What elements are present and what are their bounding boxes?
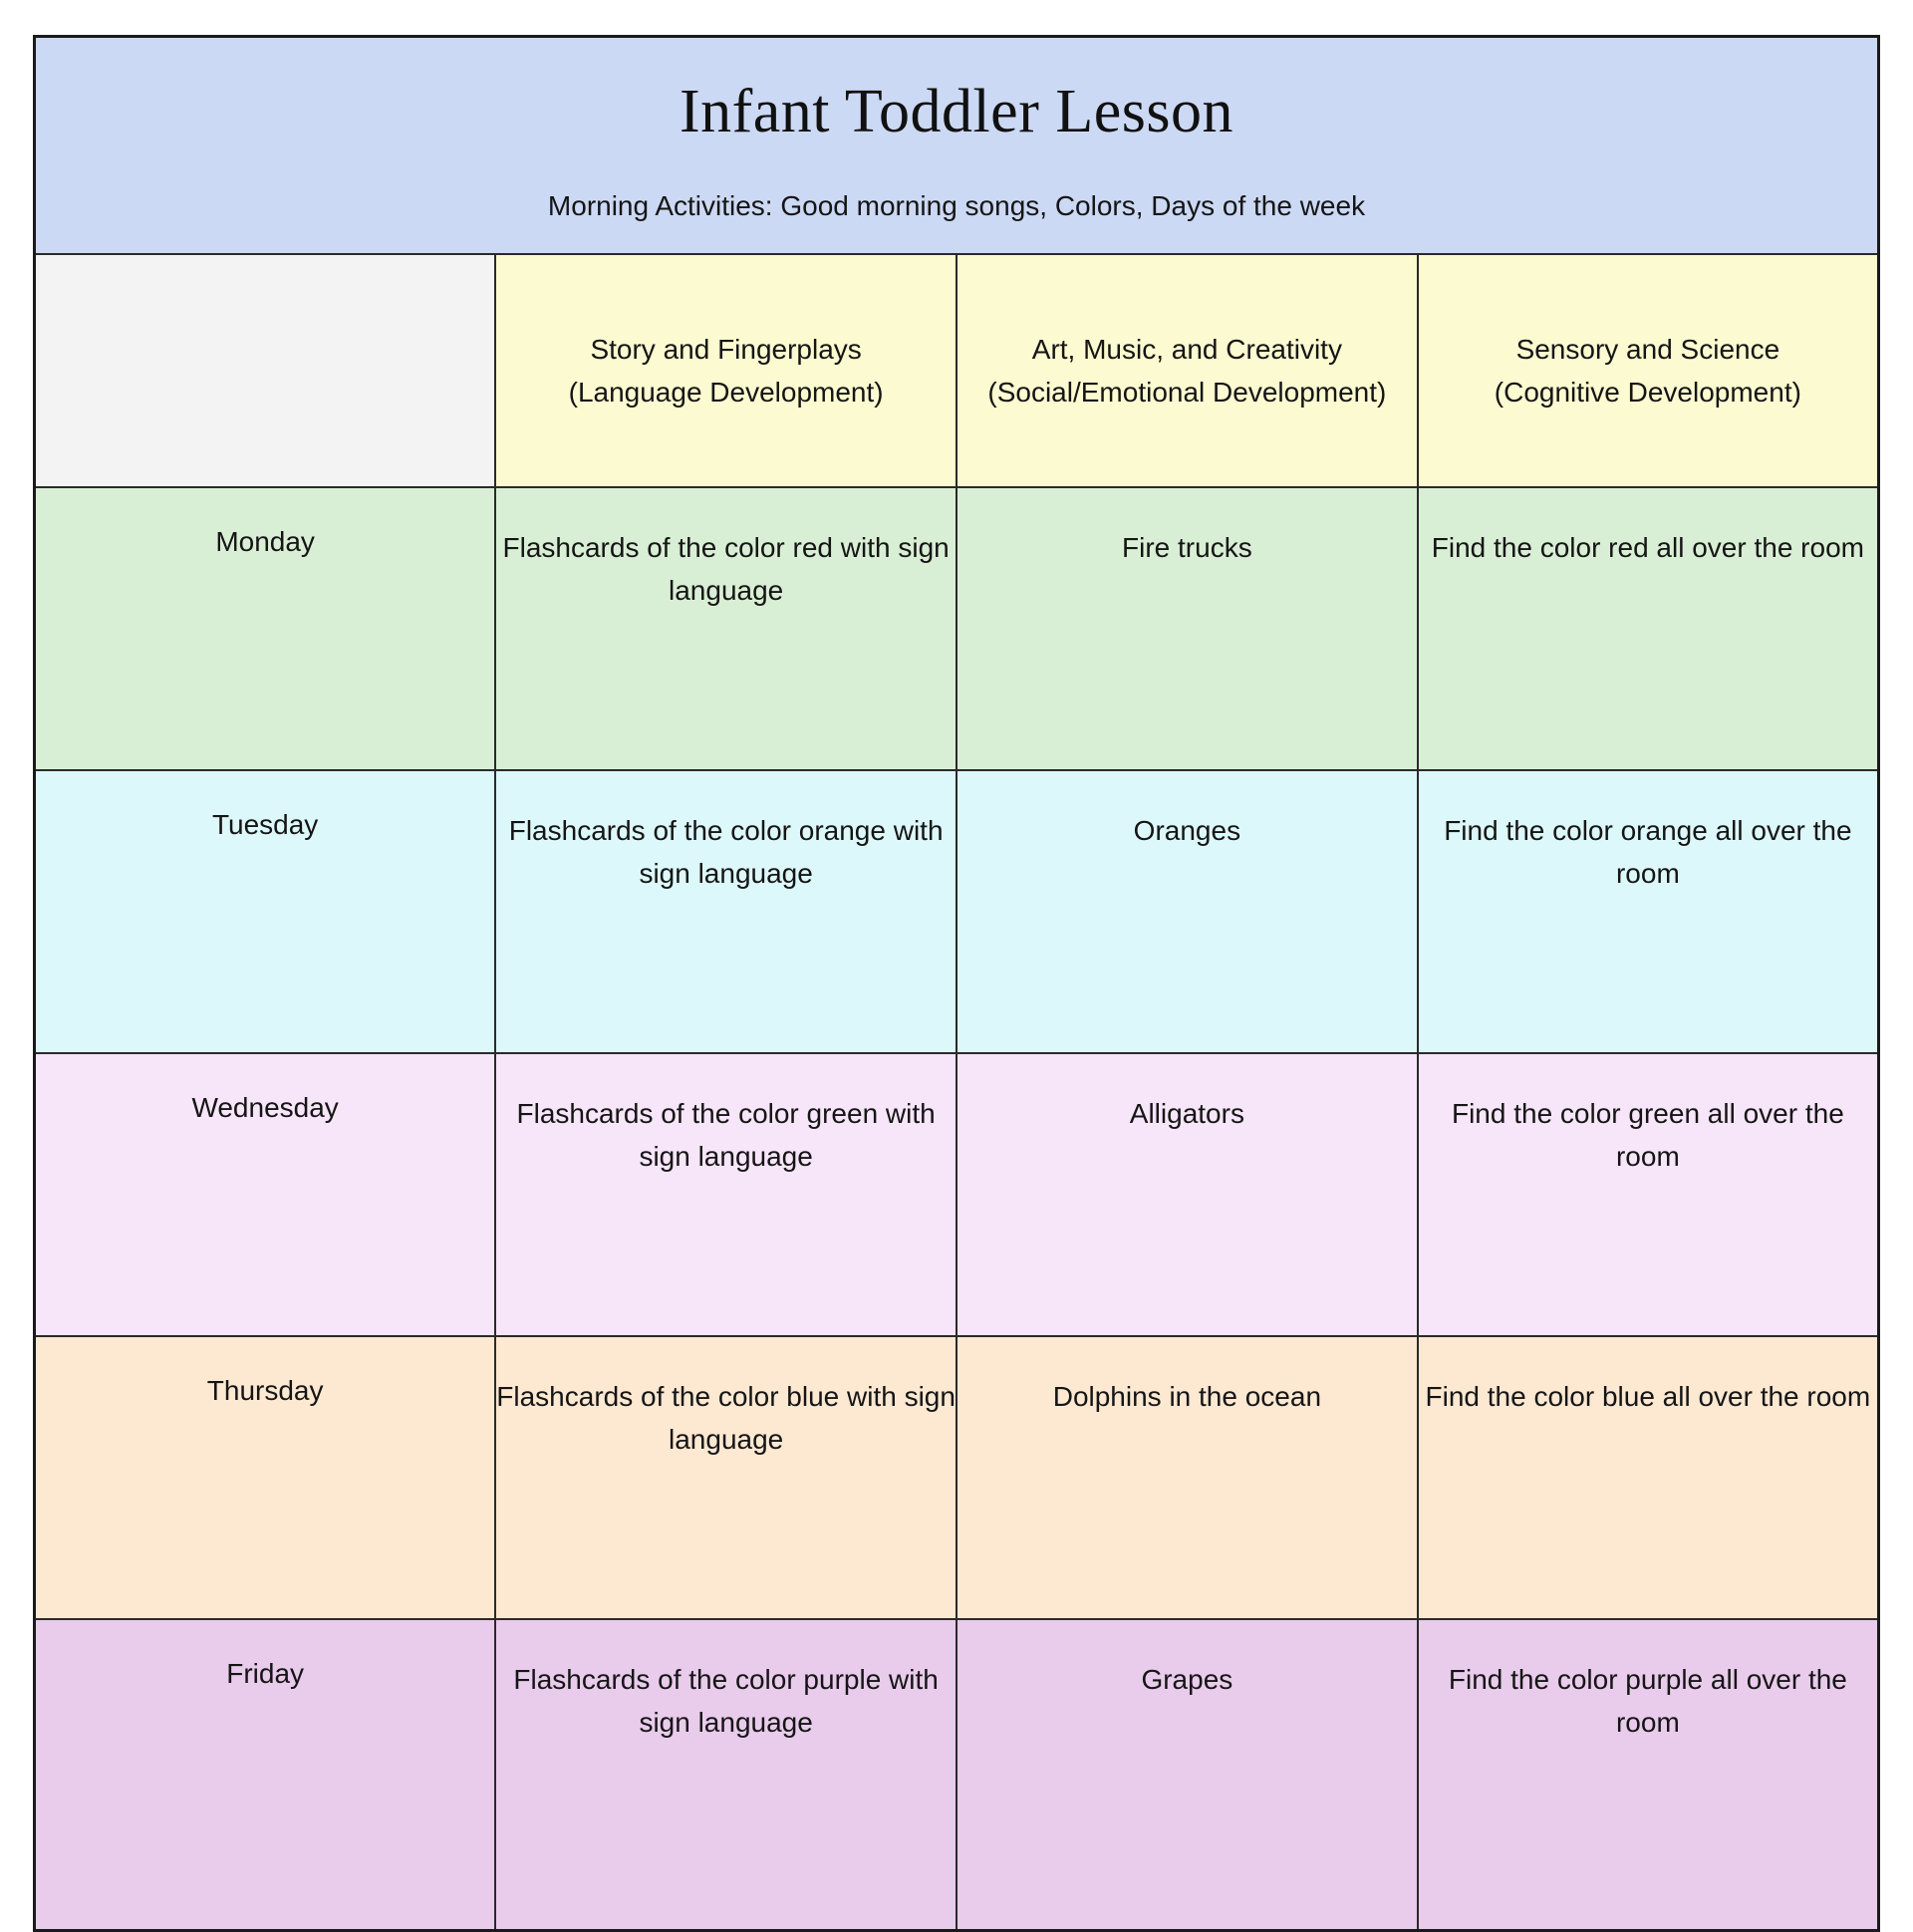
page-subtitle: Morning Activities: Good morning songs, … bbox=[36, 190, 1877, 222]
cell-sensory: Find the color blue all over the room bbox=[1418, 1336, 1879, 1619]
cell-story: Flashcards of the color orange with sign… bbox=[495, 770, 956, 1053]
cell-sensory: Find the color orange all over the room bbox=[1418, 770, 1879, 1053]
cell-art: Grapes bbox=[956, 1619, 1418, 1931]
cell-art: Fire trucks bbox=[956, 487, 1418, 770]
column-header-sensory-title: Sensory and Science bbox=[1419, 328, 1877, 371]
lesson-plan-table: Infant Toddler Lesson Morning Activities… bbox=[33, 35, 1880, 1932]
cell-story: Flashcards of the color blue with sign l… bbox=[495, 1336, 956, 1619]
cell-art: Alligators bbox=[956, 1053, 1418, 1336]
table-row: Monday Flashcards of the color red with … bbox=[35, 487, 1879, 770]
table-row: Thursday Flashcards of the color blue wi… bbox=[35, 1336, 1879, 1619]
corner-blank-cell bbox=[35, 254, 496, 487]
column-header-art-subtitle: (Social/Emotional Development) bbox=[957, 371, 1417, 414]
row-day-label: Thursday bbox=[35, 1336, 496, 1619]
row-day-label: Wednesday bbox=[35, 1053, 496, 1336]
column-header-art-title: Art, Music, and Creativity bbox=[957, 328, 1417, 371]
table-row: Tuesday Flashcards of the color orange w… bbox=[35, 770, 1879, 1053]
page-title: Infant Toddler Lesson bbox=[36, 77, 1877, 147]
column-header-story-subtitle: (Language Development) bbox=[496, 371, 956, 414]
row-day-label: Friday bbox=[35, 1619, 496, 1931]
cell-art: Dolphins in the ocean bbox=[956, 1336, 1418, 1619]
cell-sensory: Find the color purple all over the room bbox=[1418, 1619, 1879, 1931]
cell-sensory: Find the color green all over the room bbox=[1418, 1053, 1879, 1336]
cell-story: Flashcards of the color purple with sign… bbox=[495, 1619, 956, 1931]
table-row: Wednesday Flashcards of the color green … bbox=[35, 1053, 1879, 1336]
cell-sensory: Find the color red all over the room bbox=[1418, 487, 1879, 770]
title-band-cell: Infant Toddler Lesson Morning Activities… bbox=[35, 37, 1879, 255]
column-header-story-title: Story and Fingerplays bbox=[496, 328, 956, 371]
cell-story: Flashcards of the color green with sign … bbox=[495, 1053, 956, 1336]
row-day-label: Monday bbox=[35, 487, 496, 770]
title-row: Infant Toddler Lesson Morning Activities… bbox=[35, 37, 1879, 255]
column-header-sensory: Sensory and Science (Cognitive Developme… bbox=[1418, 254, 1879, 487]
column-header-art: Art, Music, and Creativity (Social/Emoti… bbox=[956, 254, 1418, 487]
cell-art: Oranges bbox=[956, 770, 1418, 1053]
column-header-sensory-subtitle: (Cognitive Development) bbox=[1419, 371, 1877, 414]
lesson-plan-page: Infant Toddler Lesson Morning Activities… bbox=[0, 0, 1913, 1714]
row-day-label: Tuesday bbox=[35, 770, 496, 1053]
column-header-story: Story and Fingerplays (Language Developm… bbox=[495, 254, 956, 487]
column-header-row: Story and Fingerplays (Language Developm… bbox=[35, 254, 1879, 487]
cell-story: Flashcards of the color red with sign la… bbox=[495, 487, 956, 770]
table-row: Friday Flashcards of the color purple wi… bbox=[35, 1619, 1879, 1931]
